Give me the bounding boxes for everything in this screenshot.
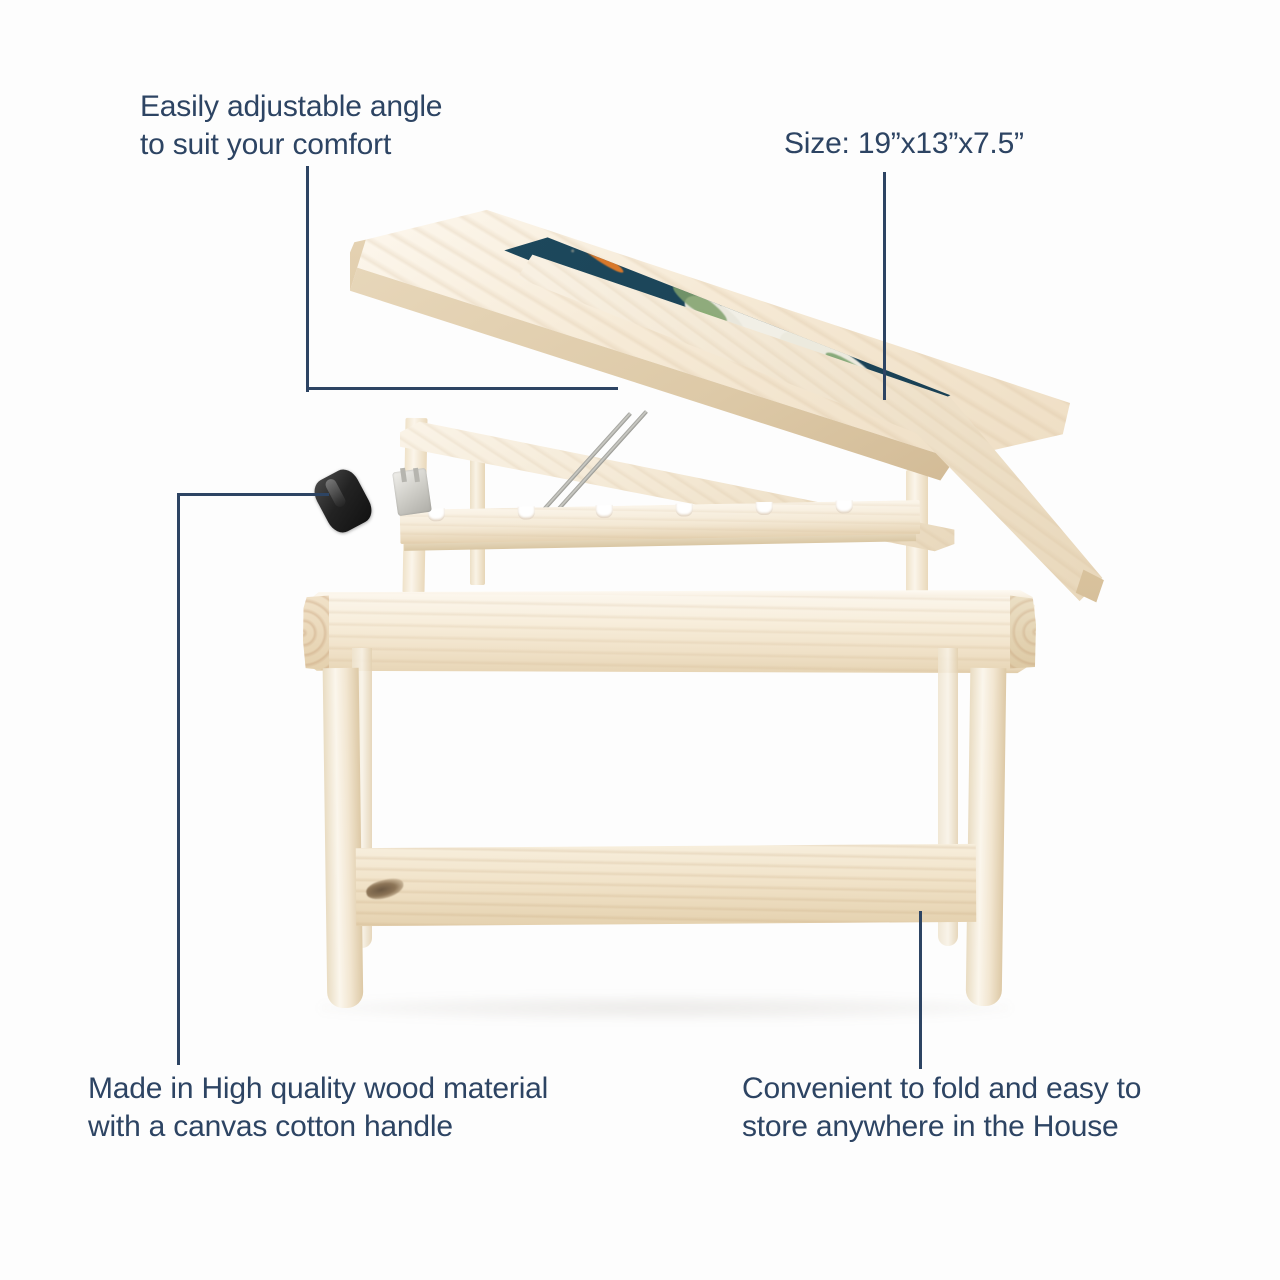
leader-line-material-vertical [177,493,180,1065]
leg-front-left [323,668,364,1008]
apron-end-grain-left [303,594,329,672]
bottom-stretcher [356,844,977,926]
leader-line-size [883,172,886,400]
callout-adjustable-angle: Easily adjustable angle to suit your com… [140,88,560,165]
leader-line-material-horizontal [177,493,329,496]
callout-material: Made in High quality wood material with … [88,1070,648,1147]
apron-end-grain-right [1010,594,1036,670]
callout-size: Size: 19”x13”x7.5” [784,125,1084,163]
callout-fold-and-store: Convenient to fold and easy to store any… [742,1070,1222,1147]
leg-front-right [966,668,1007,1006]
tilting-lid [350,200,1110,620]
infographic-canvas: Easily adjustable angle to suit your com… [0,0,1280,1280]
leader-line-angle-horizontal [306,387,618,390]
front-apron [305,592,1035,674]
leader-line-angle-vertical [306,166,309,392]
leader-line-fold [919,911,922,1069]
floor-shadow [320,995,1010,1021]
lid-top-face [350,200,1070,530]
